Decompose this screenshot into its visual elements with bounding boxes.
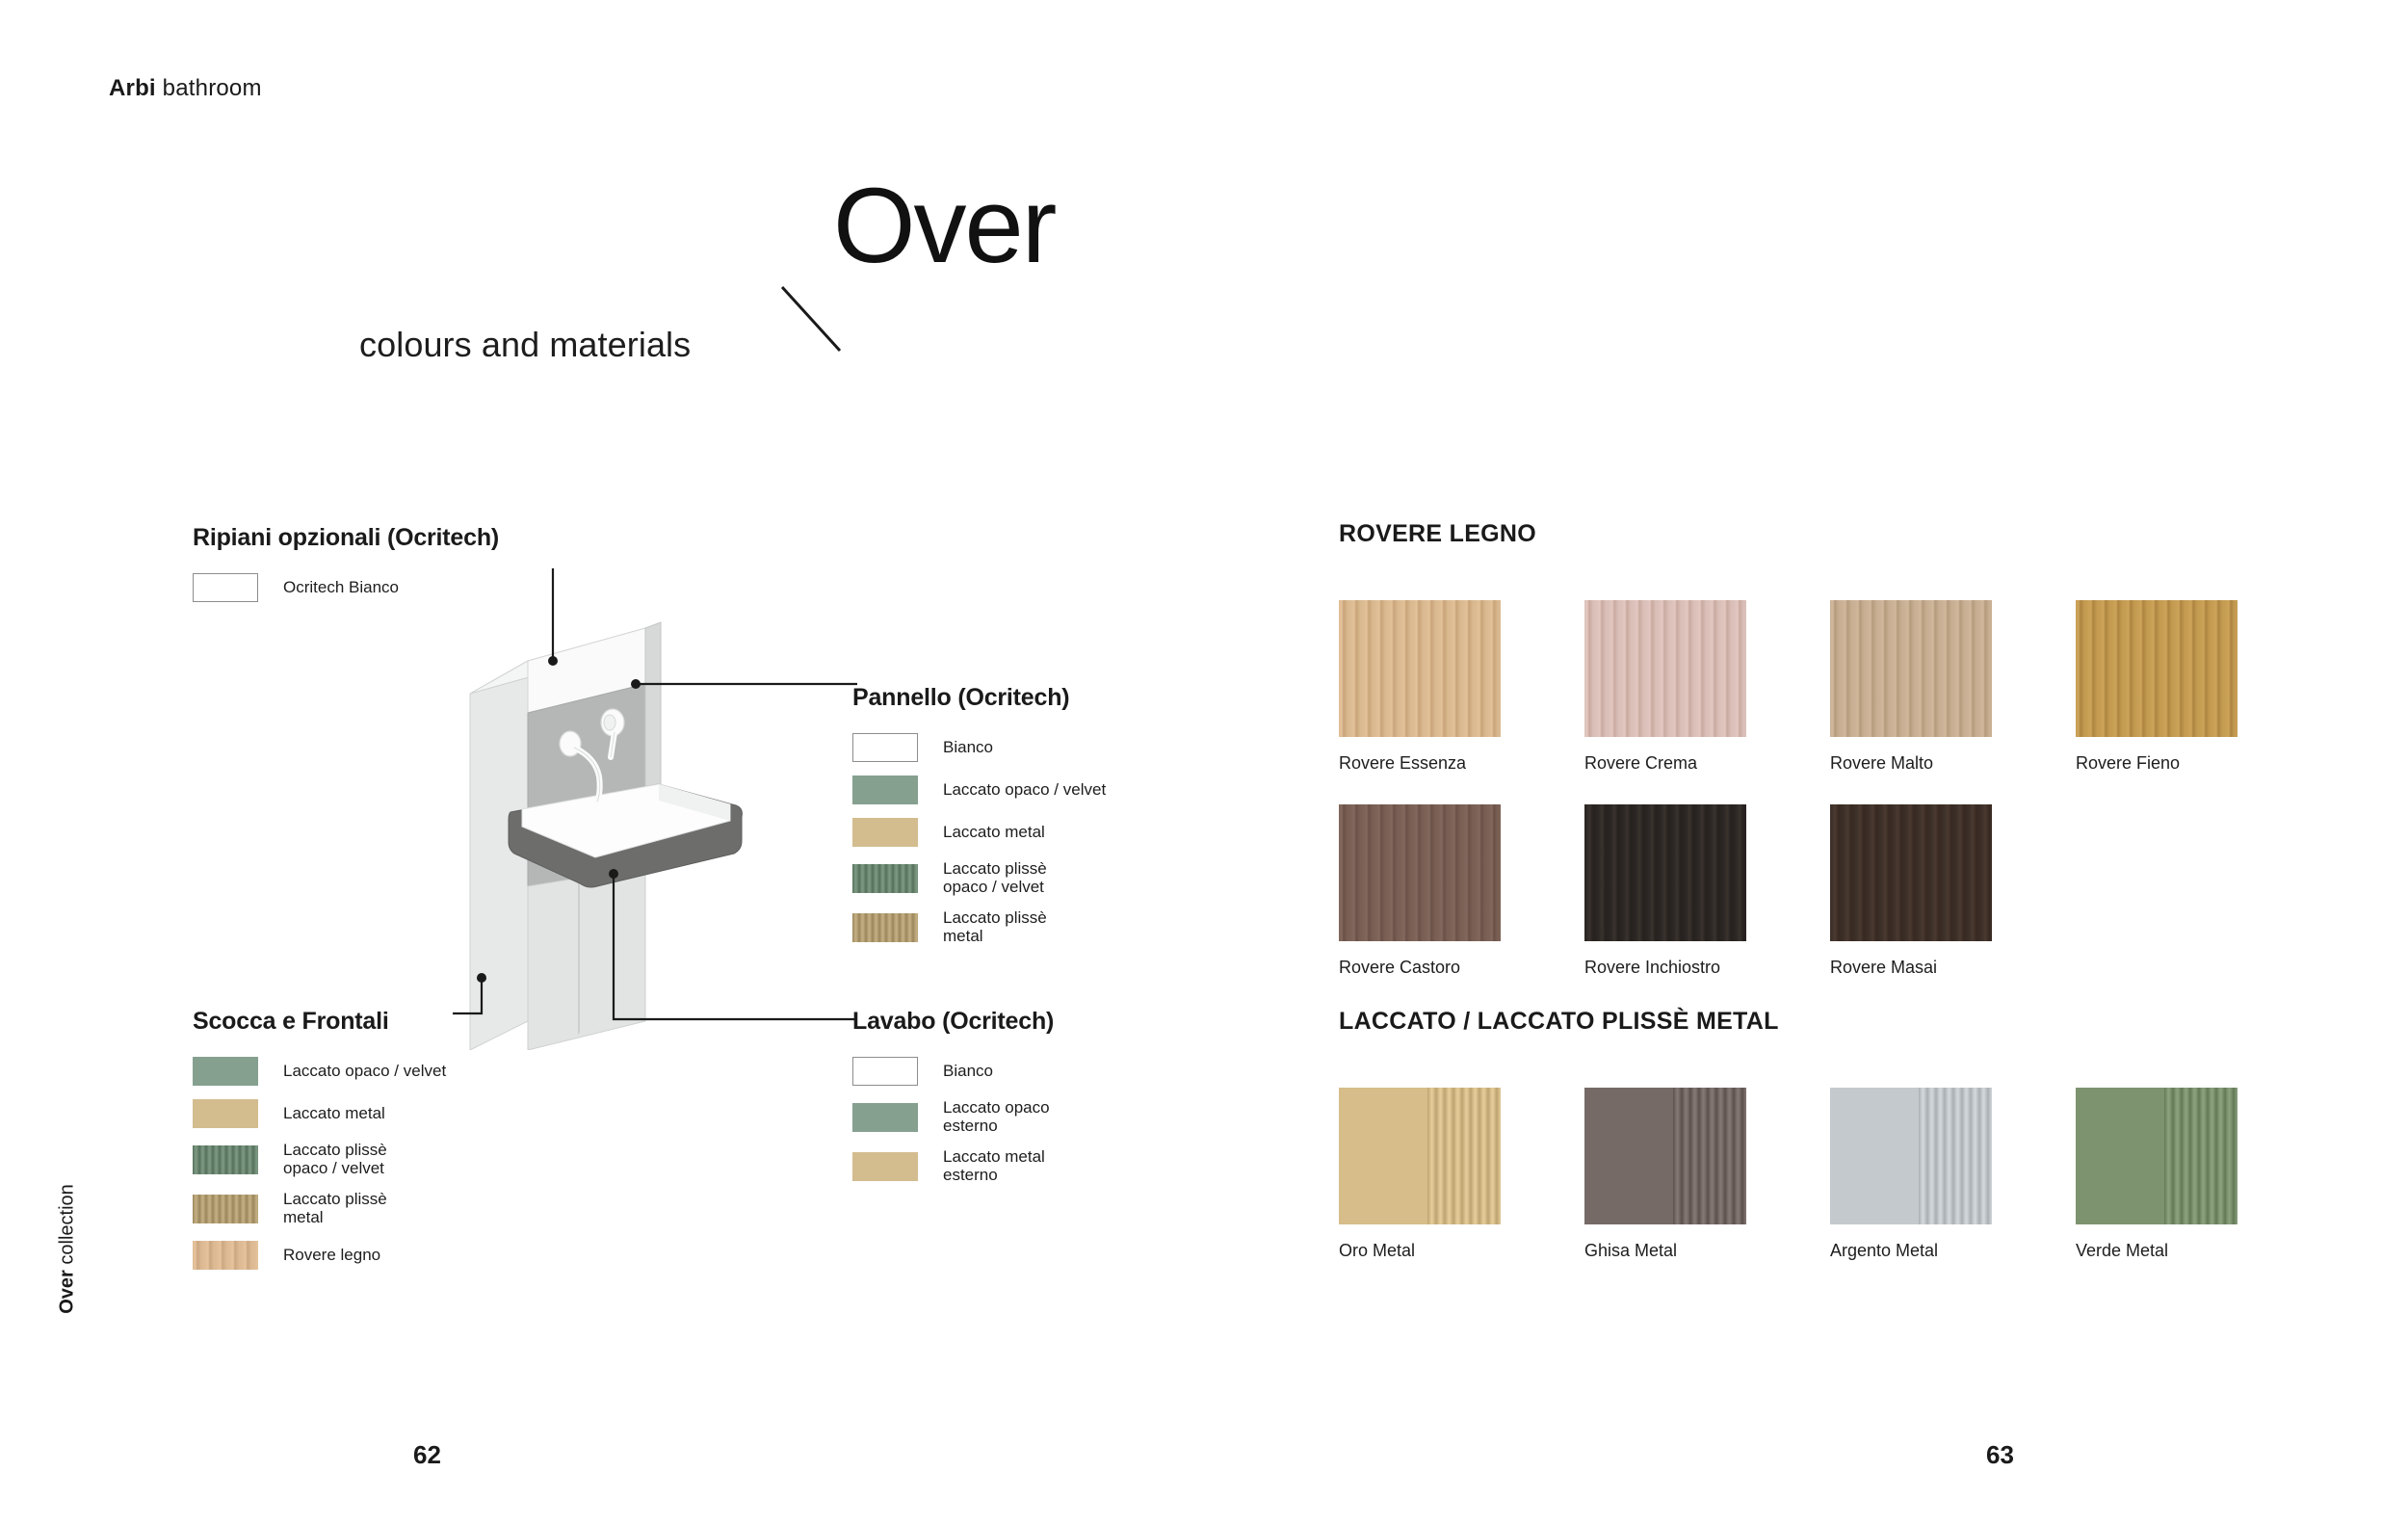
swatch-label: Laccato metal [943, 823, 1045, 841]
swatch-label: Bianco [943, 1062, 993, 1080]
swatch-flat [852, 818, 918, 847]
swatch-plisse-half [1919, 1088, 1992, 1224]
swatch-flat [193, 1057, 258, 1086]
swatch-caption: Verde Metal [2076, 1241, 2321, 1261]
legend-row: Laccato opaco / velvet [852, 776, 1106, 804]
swatch-outline [193, 573, 258, 602]
legend-row: Laccato opaco esterno [852, 1099, 1054, 1135]
legend-row: Laccato metal esterno [852, 1148, 1054, 1184]
swatch-label: Laccato plissè metal [283, 1191, 387, 1226]
wood-swatch [1830, 804, 1992, 941]
swatch-cell: Oro Metal [1339, 1088, 1584, 1261]
swatch-label: Laccato opaco / velvet [283, 1062, 446, 1080]
swatch-flat-half [2076, 1088, 2164, 1224]
swatch-label: Laccato opaco esterno [943, 1099, 1050, 1135]
legend-title-scocca: Scocca e Frontali [193, 1008, 446, 1036]
wood-swatch [1584, 600, 1746, 737]
swatch-label: Laccato plissè opaco / velvet [943, 860, 1047, 896]
swatch-cell: Rovere Crema [1584, 600, 1830, 774]
swatch-caption: Rovere Malto [1830, 753, 2076, 774]
wood-swatch [2076, 600, 2238, 737]
metal-swatch [1584, 1088, 1746, 1224]
swatch-plisse-half [1427, 1088, 1501, 1224]
swatch-row: Oro MetalGhisa MetalArgento MetalVerde M… [1339, 1088, 2321, 1261]
legend-group-pannello: Pannello (Ocritech) BiancoLaccato opaco … [852, 684, 1106, 960]
swatch-plisse [193, 1145, 258, 1174]
swatch-caption: Rovere Inchiostro [1584, 958, 1830, 978]
swatch-cell: Argento Metal [1830, 1088, 2076, 1261]
collection-spine-label: Over collection [57, 1153, 79, 1346]
metal-swatch [2076, 1088, 2238, 1224]
metal-swatch [1339, 1088, 1501, 1224]
swatch-cell: Rovere Inchiostro [1584, 804, 1830, 978]
spine-bold: Over [57, 1270, 78, 1314]
swatch-cell: Rovere Fieno [2076, 600, 2321, 774]
brand-suffix: bathroom [156, 75, 262, 101]
swatch-cell: Ghisa Metal [1584, 1088, 1830, 1261]
swatch-flat-half [1339, 1088, 1427, 1224]
legend-title-ripiani: Ripiani opzionali (Ocritech) [193, 524, 499, 552]
swatch-plisse [193, 1195, 258, 1223]
swatch-flat-half [1830, 1088, 1919, 1224]
swatch-label: Laccato plissè metal [943, 909, 1047, 945]
swatch-caption: Ghisa Metal [1584, 1241, 1830, 1261]
page-title: Over [833, 173, 1055, 279]
legend-title-lavabo: Lavabo (Ocritech) [852, 1008, 1054, 1036]
legend-row: Bianco [852, 1057, 1054, 1086]
swatch-cell: Rovere Malto [1830, 600, 2076, 774]
title-slash-decoration [780, 285, 848, 355]
swatch-caption: Oro Metal [1339, 1241, 1584, 1261]
legend-rows-ripiani: Ocritech Bianco [193, 573, 499, 602]
legend-rows-scocca: Laccato opaco / velvetLaccato metalLacca… [193, 1057, 446, 1270]
swatch-plisse [852, 864, 918, 893]
swatch-label: Bianco [943, 738, 993, 756]
swatch-row: Rovere CastoroRovere InchiostroRovere Ma… [1339, 804, 2321, 978]
swatch-flat-half [1584, 1088, 1673, 1224]
legend-row: Rovere legno [193, 1241, 446, 1270]
legend-row: Bianco [852, 733, 1106, 762]
swatch-caption: Argento Metal [1830, 1241, 2076, 1261]
swatch-label: Rovere legno [283, 1246, 380, 1264]
swatch-outline [852, 1057, 918, 1086]
swatch-plisse [852, 913, 918, 942]
swatch-caption: Rovere Crema [1584, 753, 1830, 774]
swatch-cell: Rovere Essenza [1339, 600, 1584, 774]
swatch-cell: Rovere Castoro [1339, 804, 1584, 978]
brand-name: Arbi [109, 75, 156, 101]
legend-group-ripiani: Ripiani opzionali (Ocritech) Ocritech Bi… [193, 524, 499, 616]
swatch-wood [193, 1241, 258, 1270]
metal-swatch [1830, 1088, 1992, 1224]
swatch-flat [852, 776, 918, 804]
legend-rows-lavabo: BiancoLaccato opaco esternoLaccato metal… [852, 1057, 1054, 1185]
swatch-label: Ocritech Bianco [283, 578, 399, 596]
legend-title-pannello: Pannello (Ocritech) [852, 684, 1106, 712]
swatch-flat [852, 1103, 918, 1132]
swatch-label: Laccato opaco / velvet [943, 780, 1106, 799]
wood-swatch [1830, 600, 1992, 737]
page-subtitle: colours and materials [359, 325, 691, 365]
section-title-laccato-metal: LACCATO / LACCATO PLISSÈ METAL [1339, 1008, 2321, 1036]
legend-row: Laccato plissè opaco / velvet [193, 1142, 446, 1177]
swatch-plisse-half [2164, 1088, 2238, 1224]
wood-swatch [1339, 600, 1501, 737]
swatch-grid-laccato-metal: Oro MetalGhisa MetalArgento MetalVerde M… [1339, 1088, 2321, 1261]
section-laccato-metal: LACCATO / LACCATO PLISSÈ METAL Oro Metal… [1339, 1008, 2321, 1261]
legend-group-lavabo: Lavabo (Ocritech) BiancoLaccato opaco es… [852, 1008, 1054, 1198]
swatch-caption: Rovere Masai [1830, 958, 2076, 978]
legend-rows-pannello: BiancoLaccato opaco / velvetLaccato meta… [852, 733, 1106, 946]
swatch-label: Laccato plissè opaco / velvet [283, 1142, 387, 1177]
legend-row: Laccato plissè metal [852, 909, 1106, 945]
swatch-plisse-half [1673, 1088, 1746, 1224]
legend-group-scocca: Scocca e Frontali Laccato opaco / velvet… [193, 1008, 446, 1283]
section-rovere-legno: ROVERE LEGNO Rovere EssenzaRovere CremaR… [1339, 520, 2321, 978]
swatch-caption: Rovere Essenza [1339, 753, 1584, 774]
legend-row: Laccato plissè metal [193, 1191, 446, 1226]
swatch-label: Laccato metal [283, 1104, 385, 1122]
swatch-caption: Rovere Castoro [1339, 958, 1584, 978]
swatch-row: Rovere EssenzaRovere CremaRovere MaltoRo… [1339, 600, 2321, 774]
swatch-caption: Rovere Fieno [2076, 753, 2321, 774]
legend-row: Laccato opaco / velvet [193, 1057, 446, 1086]
swatch-cell: Rovere Masai [1830, 804, 2076, 978]
swatch-outline [852, 733, 918, 762]
legend-row: Laccato plissè opaco / velvet [852, 860, 1106, 896]
swatch-cell: Verde Metal [2076, 1088, 2321, 1261]
legend-row: Laccato metal [193, 1099, 446, 1128]
legend-row: Laccato metal [852, 818, 1106, 847]
legend-row: Ocritech Bianco [193, 573, 499, 602]
page-number-right: 63 [1986, 1440, 2014, 1470]
swatch-flat [852, 1152, 918, 1181]
swatch-grid-rovere-legno: Rovere EssenzaRovere CremaRovere MaltoRo… [1339, 600, 2321, 978]
brand-logo: Arbi bathroom [109, 75, 262, 102]
wood-swatch [1339, 804, 1501, 941]
wood-swatch [1584, 804, 1746, 941]
swatch-label: Laccato metal esterno [943, 1148, 1045, 1184]
swatch-flat [193, 1099, 258, 1128]
page-number-left: 62 [413, 1440, 441, 1470]
section-title-rovere-legno: ROVERE LEGNO [1339, 520, 2321, 548]
spine-light: collection [57, 1184, 78, 1270]
